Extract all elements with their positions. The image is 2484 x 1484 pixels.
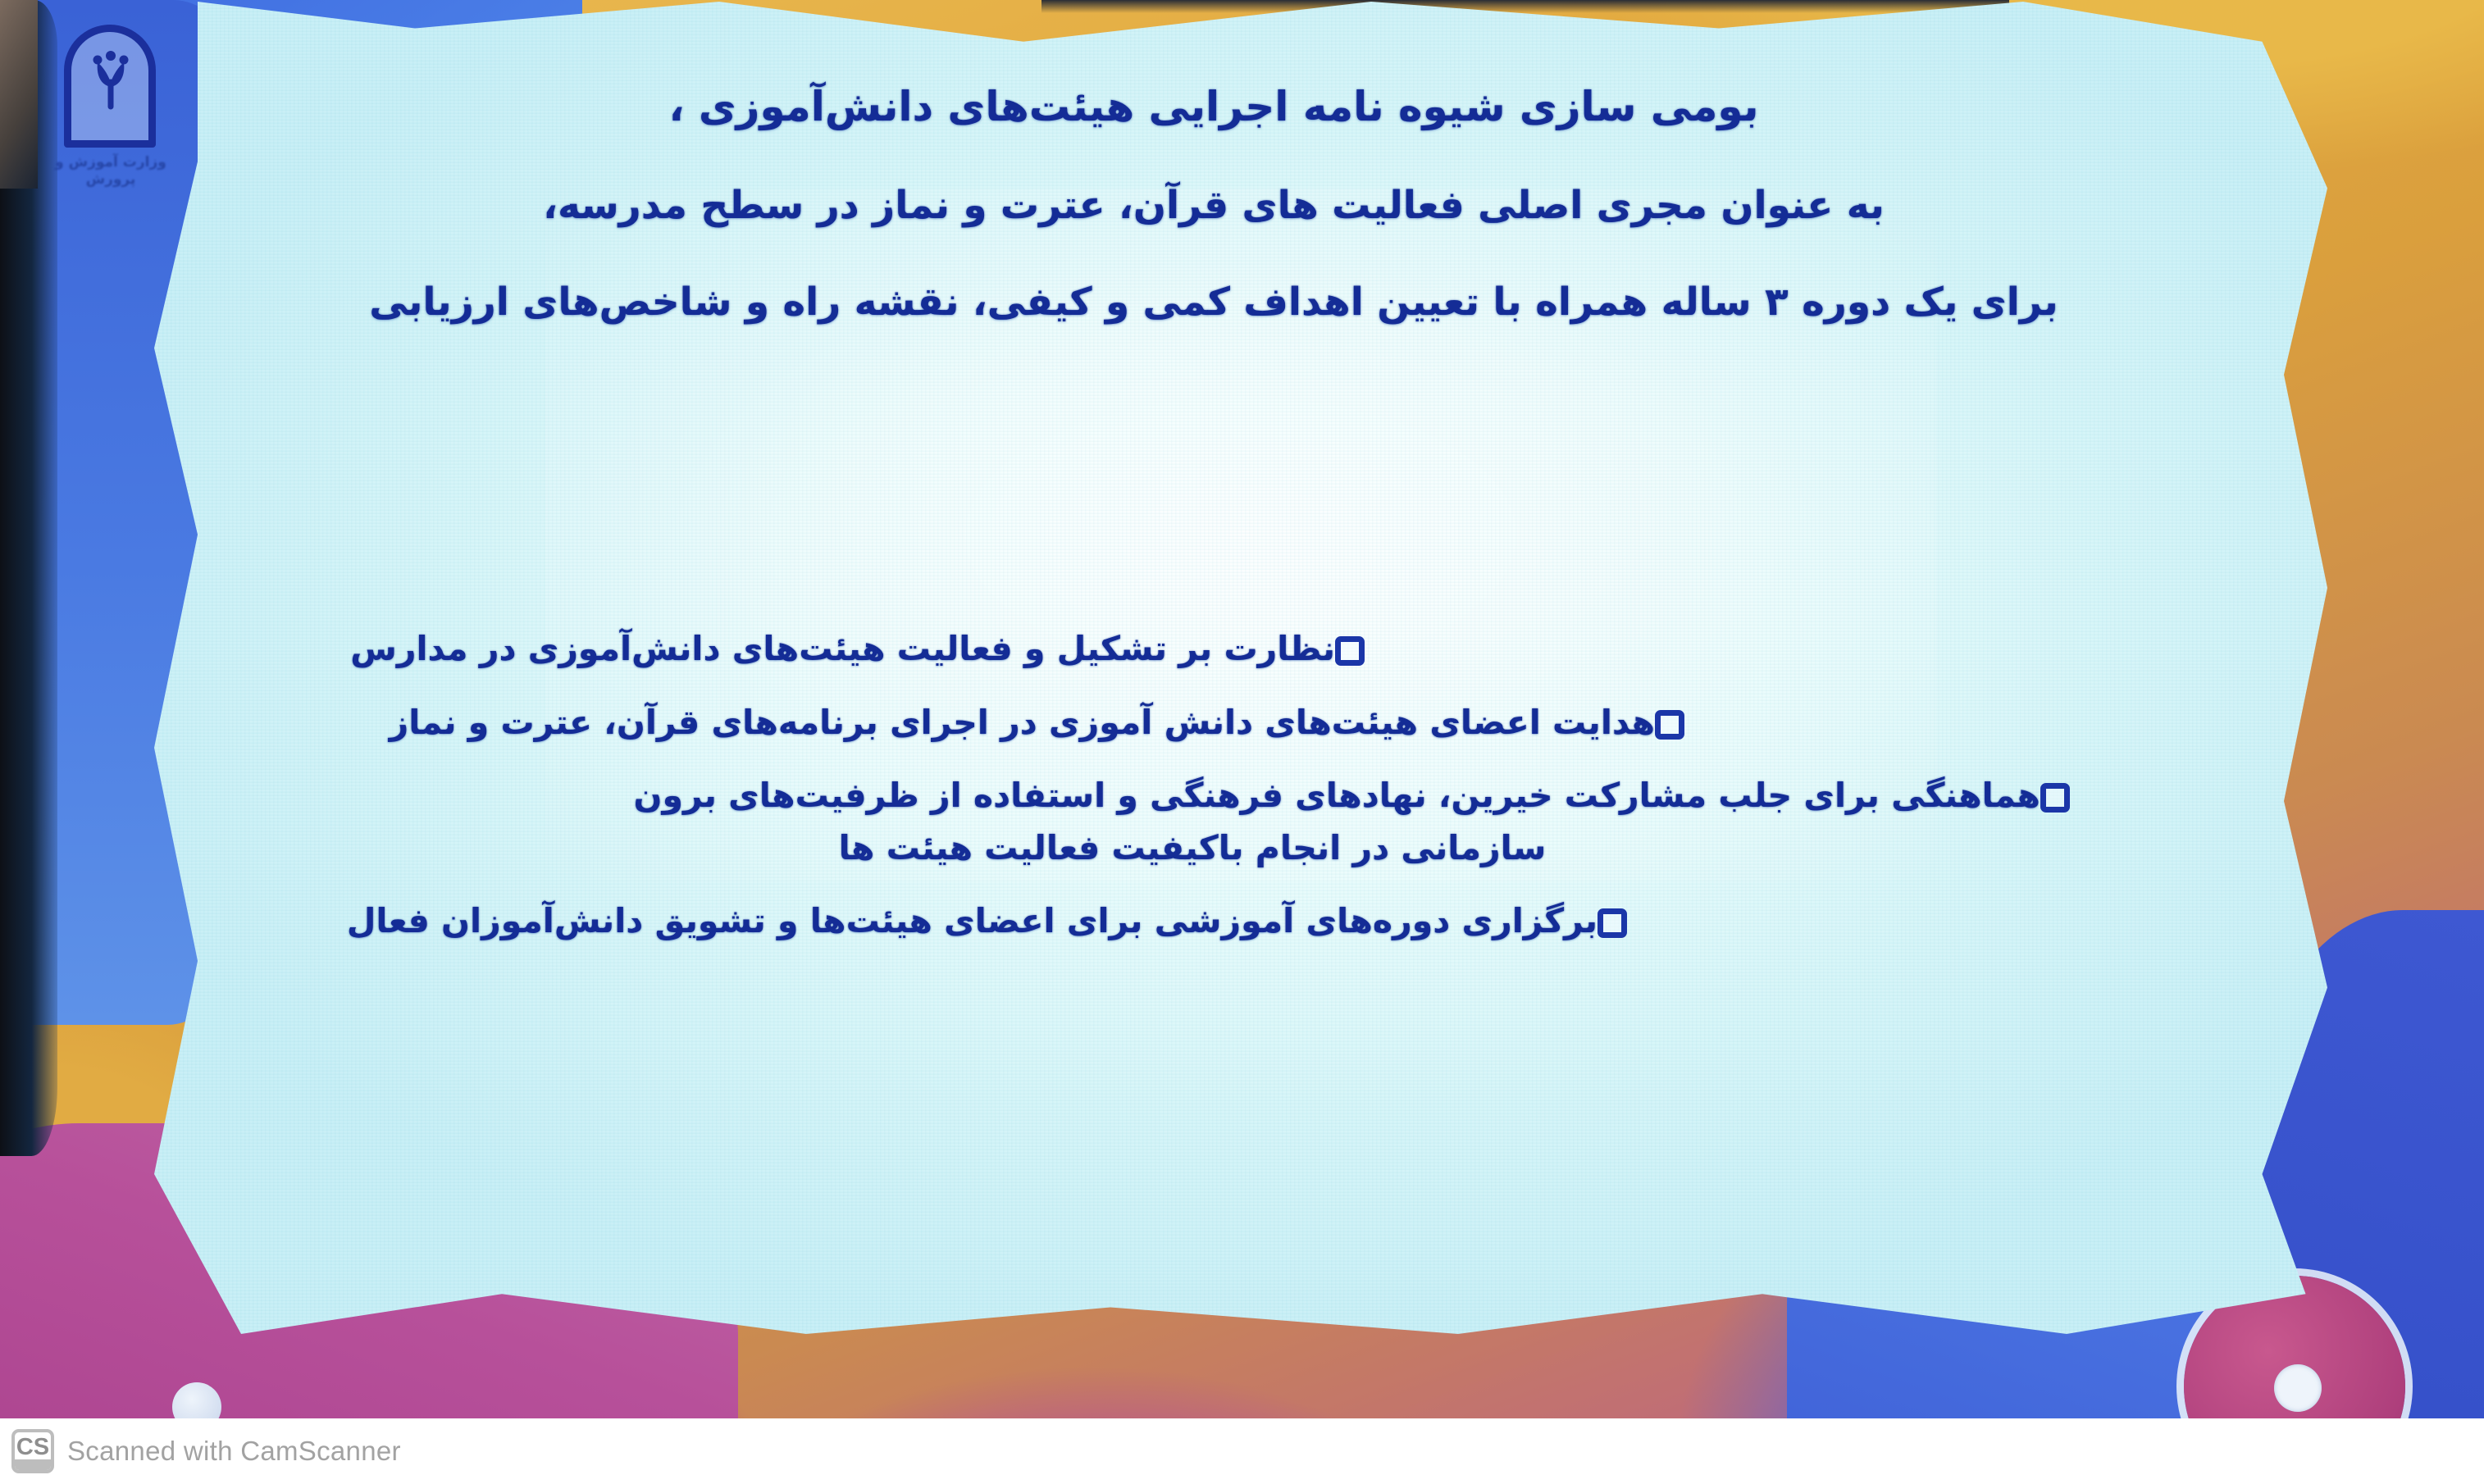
tulip-icon	[85, 49, 136, 110]
list-item-label-continuation: سازمانی در انجام باکیفیت فعالیت هیئت ها	[246, 822, 2040, 875]
camscanner-logo-icon: CS	[11, 1429, 54, 1473]
headline-line-2: به عنوان مجری اصلی فعالیت های قرآن، عترت…	[213, 175, 2214, 237]
checkbox-square-icon	[1655, 710, 1684, 740]
slide-headline-block: بومی سازی شیوه نامه اجرایی هیئت‌های دانش…	[213, 74, 2214, 373]
decorative-dot-bottom-right	[2274, 1364, 2322, 1412]
photographed-slide: وزارت آموزش و پرورش بومی سازی شیوه نامه …	[0, 0, 2484, 1418]
list-item-label: نظارت بر تشکیل و فعالیت هیئت‌های دانش‌آم…	[246, 623, 1335, 676]
screenshot-root: وزارت آموزش و پرورش بومی سازی شیوه نامه …	[0, 0, 2484, 1484]
list-item-label: هماهنگی برای جلب مشارکت خیرین، نهادهای ف…	[246, 770, 2040, 874]
headline-line-1: بومی سازی شیوه نامه اجرایی هیئت‌های دانش…	[213, 74, 2214, 140]
camscanner-badge-bar	[15, 1459, 51, 1470]
photo-top-edge-shadow	[1041, 0, 2009, 13]
camscanner-watermark: CS Scanned with CamScanner	[0, 1418, 2484, 1484]
ministry-logo: وزارت آموزش و پرورش	[41, 7, 180, 212]
screen-bezel-shadow-top	[0, 0, 38, 189]
headline-line-3: برای یک دوره ۳ ساله همراه با تعیین اهداف…	[213, 271, 2214, 334]
list-item-label: برگزاری دوره‌های آموزشی برای اعضای هیئت‌…	[246, 895, 1598, 948]
list-item: هدایت اعضای هیئت‌های دانش آموزی در اجرای…	[246, 697, 2231, 749]
checkbox-square-icon	[1598, 908, 1627, 938]
responsibility-list: نظارت بر تشکیل و فعالیت هیئت‌های دانش‌آم…	[246, 623, 2231, 969]
page-title: بومی سازی شیوه نامه اجرایی هیئت‌های دانش…	[213, 74, 2214, 334]
camscanner-badge-label: CS	[16, 1434, 49, 1460]
checkbox-square-icon	[1335, 636, 1365, 666]
list-item-label: هدایت اعضای هیئت‌های دانش آموزی در اجرای…	[246, 697, 1655, 749]
camscanner-caption: Scanned with CamScanner	[67, 1436, 401, 1467]
checkbox-square-icon	[2040, 783, 2070, 813]
list-item: برگزاری دوره‌های آموزشی برای اعضای هیئت‌…	[246, 895, 2231, 948]
logo-caption: وزارت آموزش و پرورش	[41, 154, 180, 189]
list-item: نظارت بر تشکیل و فعالیت هیئت‌های دانش‌آم…	[246, 623, 2231, 676]
list-item: هماهنگی برای جلب مشارکت خیرین، نهادهای ف…	[246, 770, 2231, 874]
list-item-label-main: هماهنگی برای جلب مشارکت خیرین، نهادهای ف…	[634, 776, 2040, 815]
